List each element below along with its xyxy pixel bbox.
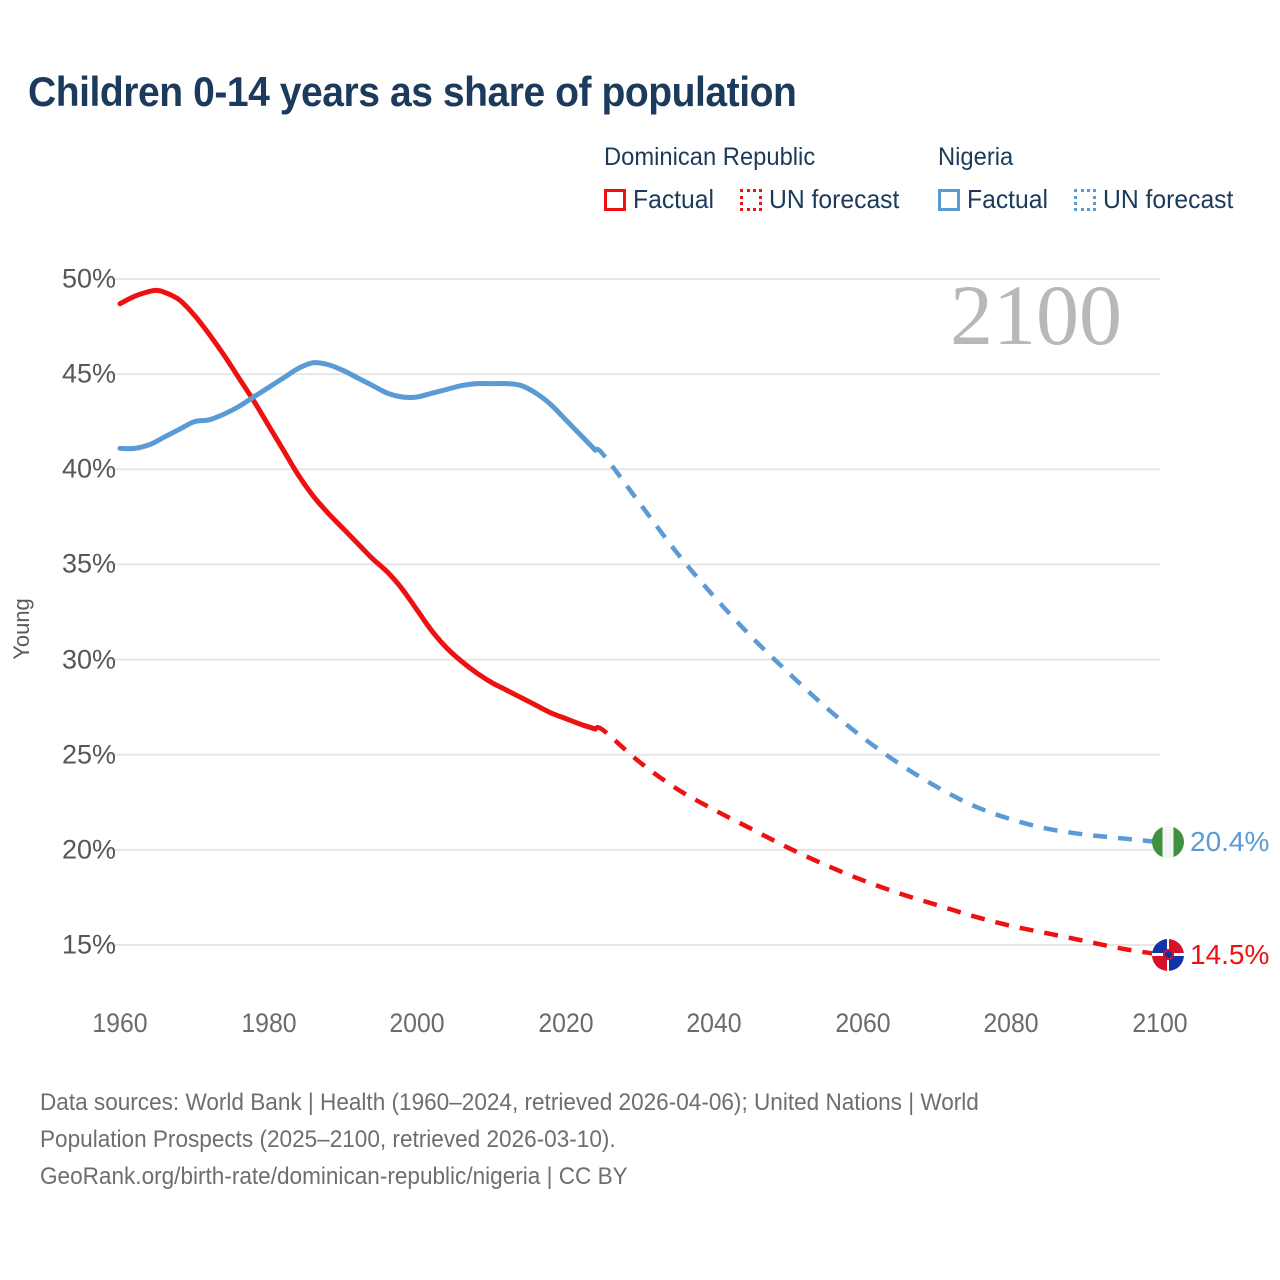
gridlines: [108, 279, 1160, 945]
y-tick-label: 35%: [62, 549, 116, 580]
y-tick-label: 20%: [62, 834, 116, 865]
series-lines: [120, 290, 1160, 954]
y-tick-label: 15%: [62, 930, 116, 961]
y-tick-label: 45%: [62, 359, 116, 390]
x-tick-label: 2100: [1132, 1008, 1187, 1039]
footer-line-3[interactable]: GeoRank.org/birth-rate/dominican-republi…: [40, 1158, 1168, 1195]
line-forecast-dominican-republic: [595, 727, 1160, 954]
x-tick-label: 1960: [92, 1008, 147, 1039]
line-factual-dominican-republic: [120, 290, 595, 729]
x-tick-label: 2080: [984, 1008, 1039, 1039]
chart-page: Children 0-14 years as share of populati…: [0, 0, 1280, 1280]
footer-line-1: Data sources: World Bank | Health (1960–…: [40, 1084, 1168, 1121]
line-factual-nigeria: [120, 363, 595, 451]
line-forecast-nigeria: [595, 449, 1160, 842]
y-tick-label: 50%: [62, 264, 116, 295]
x-tick-label: 1980: [241, 1008, 296, 1039]
footer-note: Data sources: World Bank | Health (1960–…: [40, 1084, 1240, 1195]
nigeria-flag-icon: [1152, 826, 1184, 858]
dominican-republic-flag-icon: [1152, 939, 1184, 971]
x-tick-label: 2060: [835, 1008, 890, 1039]
y-tick-label: 25%: [62, 739, 116, 770]
x-tick-label: 2000: [390, 1008, 445, 1039]
x-tick-label: 2040: [687, 1008, 742, 1039]
footer-line-2: Population Prospects (2025–2100, retriev…: [40, 1121, 1168, 1158]
y-tick-label: 40%: [62, 454, 116, 485]
dominican-republic-end-value: 14.5%: [1190, 939, 1269, 971]
y-tick-label: 30%: [62, 644, 116, 675]
x-tick-label: 2020: [538, 1008, 593, 1039]
nigeria-end-value: 20.4%: [1190, 826, 1269, 858]
